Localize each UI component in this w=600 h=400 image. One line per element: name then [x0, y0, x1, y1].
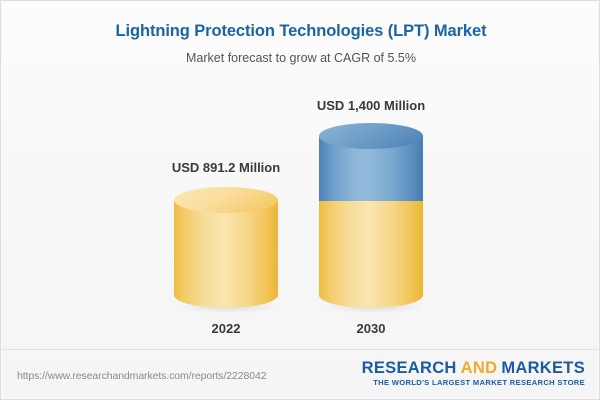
chart-plot-area: USD 891.2 Million 2022 USD 1,400 Million…	[1, 1, 600, 349]
category-label-2030: 2030	[271, 321, 471, 336]
cylinder-cap-2030	[319, 123, 423, 149]
logo-word-research: RESEARCH	[362, 359, 457, 377]
report-url-link[interactable]: https://www.researchandmarkets.com/repor…	[17, 370, 266, 382]
chart-card: Lightning Protection Technologies (LPT) …	[0, 0, 600, 400]
logo-wordmark: RESEARCHANDMARKETS	[362, 360, 585, 377]
cylinder-2030-base-segment[interactable]	[319, 199, 423, 308]
data-label-2030: USD 1,400 Million	[271, 98, 471, 113]
logo-word-markets: MARKETS	[501, 359, 585, 377]
cylinder-body-2030-base	[319, 199, 423, 308]
chart-footer: https://www.researchandmarkets.com/repor…	[1, 350, 600, 400]
logo-word-and: AND	[457, 359, 502, 377]
research-and-markets-logo[interactable]: RESEARCHANDMARKETS THE WORLD'S LARGEST M…	[362, 360, 585, 388]
bar-group-2030: USD 1,400 Million 2030	[1, 1, 600, 349]
logo-tagline: THE WORLD'S LARGEST MARKET RESEARCH STOR…	[362, 377, 585, 387]
